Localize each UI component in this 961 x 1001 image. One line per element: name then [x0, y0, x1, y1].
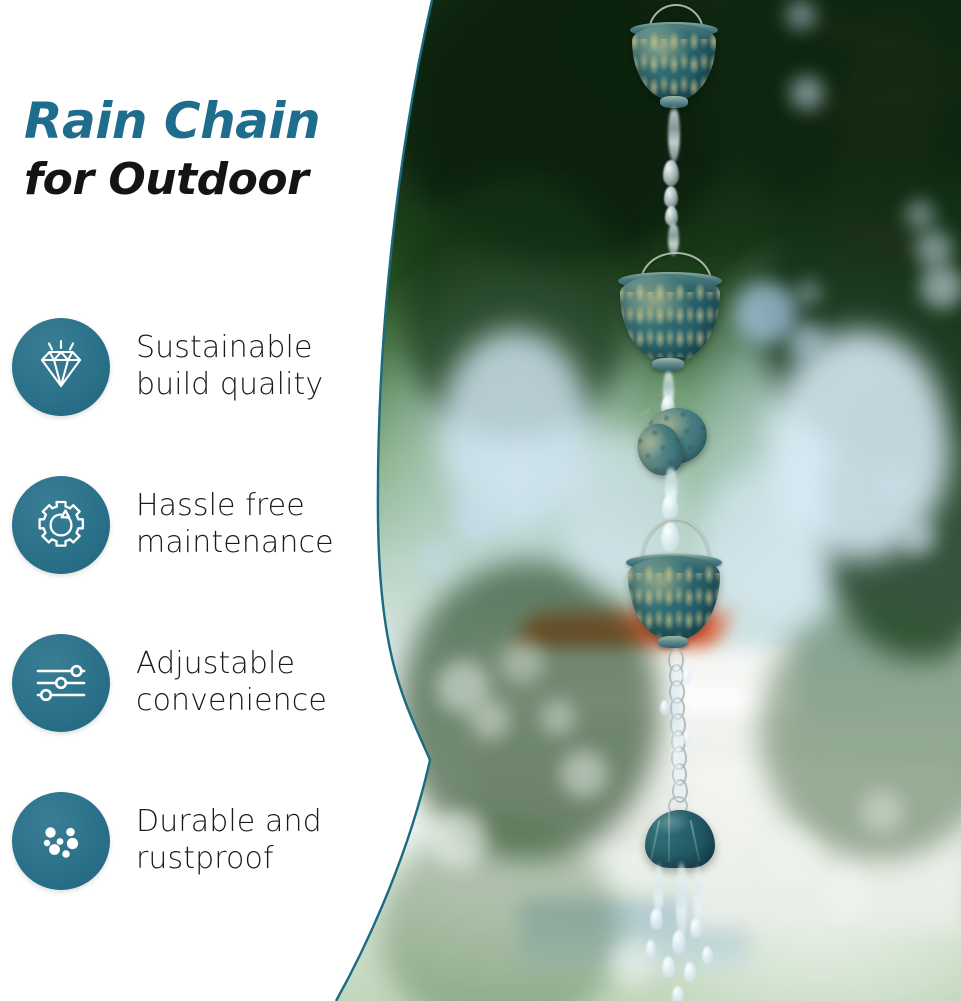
page-title: Rain Chain for Outdoor: [24, 96, 384, 204]
feature-icon-badge: [12, 634, 110, 732]
feature-item-rustproof: Durable and rustproof: [12, 762, 392, 920]
feature-icon-badge: [12, 792, 110, 890]
feature-item-sustainable: Sustainable build quality: [12, 288, 392, 446]
diamond-icon: [32, 338, 90, 396]
feature-list: Sustainable build quality Hassle free ma…: [12, 288, 392, 920]
sliders-icon: [32, 654, 90, 712]
feature-label: Durable and rustproof: [136, 804, 322, 877]
left-content: Rain Chain for Outdoor: [0, 0, 400, 1001]
feature-label: Sustainable build quality: [136, 330, 323, 403]
feature-icon-badge: [12, 476, 110, 574]
feature-item-adjustable: Adjustable convenience: [12, 604, 392, 762]
droplets-icon: [32, 812, 90, 870]
feature-item-maintenance: Hassle free maintenance: [12, 446, 392, 604]
product-poster: Rain Chain for Outdoor: [0, 0, 961, 1001]
headline-line-1: Rain Chain: [24, 96, 384, 147]
headline-line-2: for Outdoor: [24, 155, 384, 204]
feature-icon-badge: [12, 318, 110, 416]
feature-label: Adjustable convenience: [136, 646, 327, 719]
feature-label: Hassle free maintenance: [136, 488, 334, 561]
gear-icon: [32, 496, 90, 554]
